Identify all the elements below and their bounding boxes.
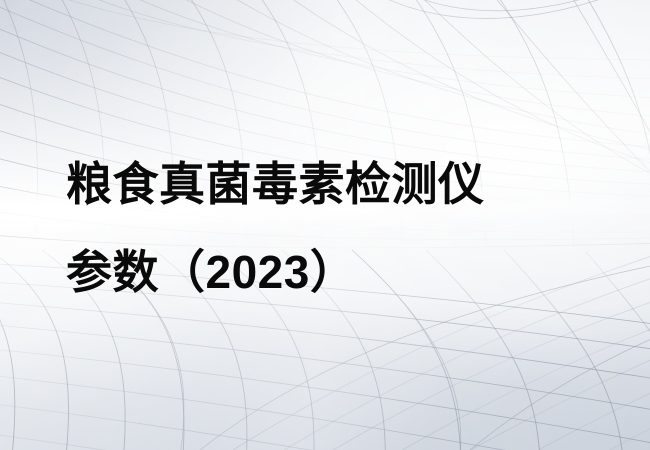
banner-title: 粮食真菌毒素检测仪 参数（2023） [66,140,485,316]
title-line-2: 参数（2023） [66,228,485,316]
title-line-1: 粮食真菌毒素检测仪 [66,140,485,228]
mesh-top-arc [330,0,648,18]
banner-image: 粮食真菌毒素检测仪 参数（2023） [0,0,650,450]
